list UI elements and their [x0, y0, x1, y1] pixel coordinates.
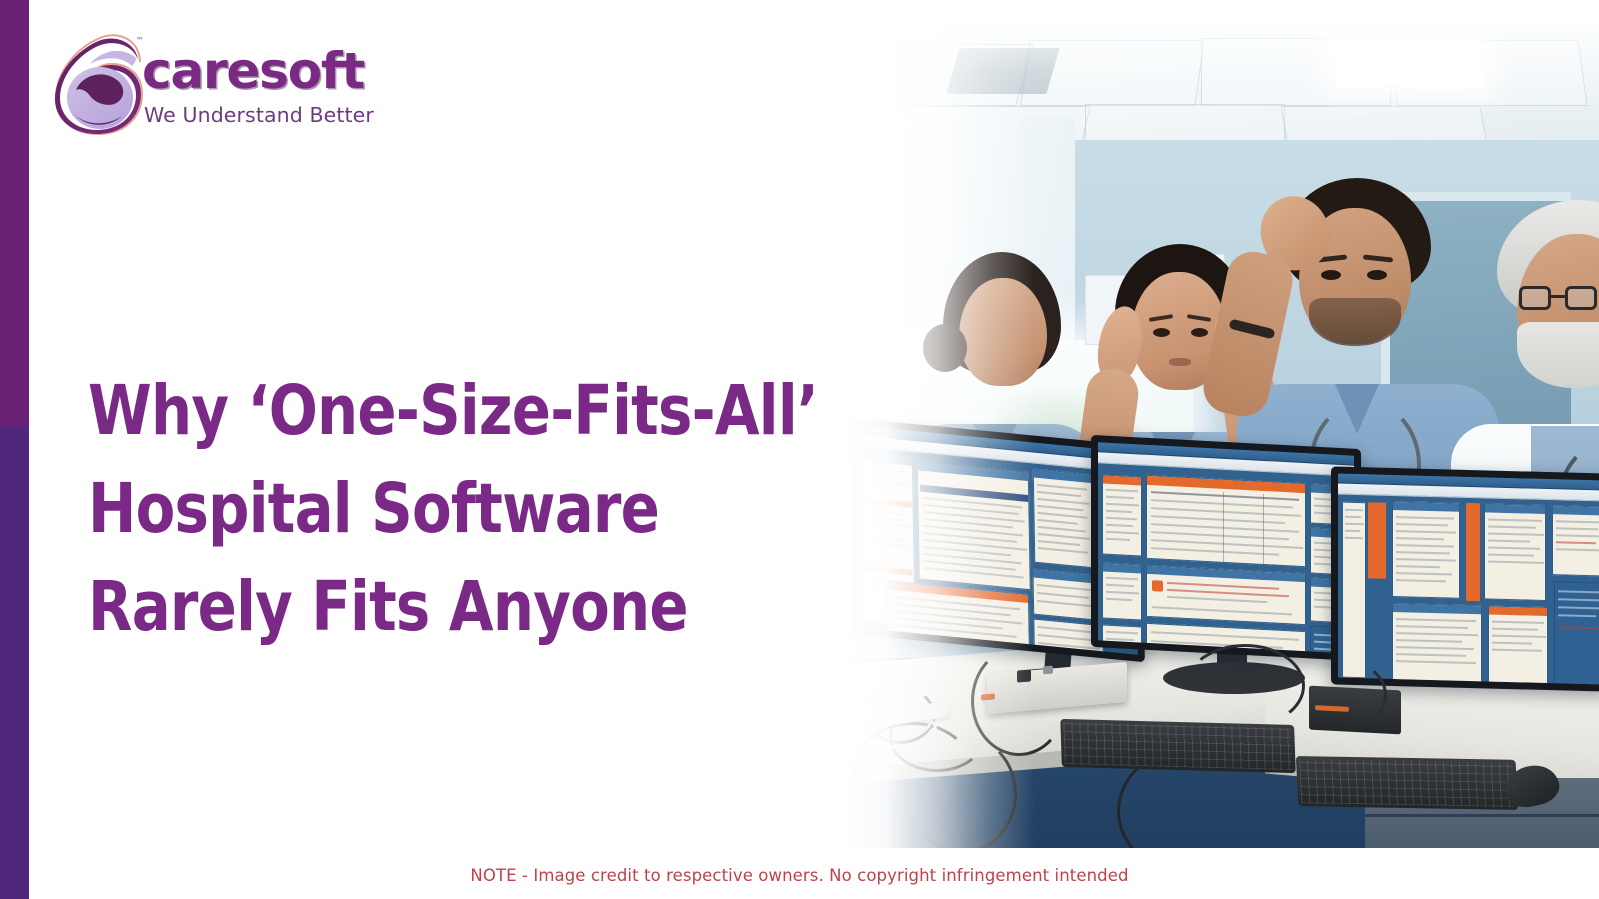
- accent-strip-top-segment: [0, 0, 29, 426]
- left-accent-strip: [0, 0, 29, 899]
- monitor-center: [1091, 435, 1361, 661]
- monitor-right-screen: [1338, 474, 1599, 685]
- photo-scene: [845, 22, 1599, 848]
- beard: [1517, 322, 1599, 388]
- headline-line-3: Rarely Fits Anyone: [88, 558, 767, 656]
- image-credit-note: NOTE - Image credit to respective owners…: [0, 866, 1599, 885]
- hospital-workstation-photo: [845, 22, 1599, 848]
- accent-strip-bottom-segment: [0, 426, 29, 899]
- brand-logo[interactable]: ™ caresoft We Understand Better: [52, 28, 382, 138]
- brand-name: caresoft: [142, 48, 382, 96]
- alert-banner: [1368, 502, 1386, 578]
- monitor-center-screen: [1098, 442, 1354, 653]
- logo-wordmark: caresoft We Understand Better: [142, 48, 382, 127]
- keyboard-right[interactable]: [1296, 756, 1518, 810]
- headline-line-2: Hospital Software: [88, 460, 767, 558]
- caresoft-droplet-six-logo-icon: [52, 32, 148, 136]
- slide-canvas: ™ caresoft We Understand Better Why ‘One…: [0, 0, 1599, 899]
- headline-line-1: Why ‘One-Size-Fits-All’: [88, 362, 767, 460]
- eyeglasses-icon: [1519, 286, 1597, 310]
- ceiling-light-panel: [1331, 40, 1486, 86]
- headline: Why ‘One-Size-Fits-All’ Hospital Softwar…: [88, 362, 818, 656]
- brand-tagline: We Understand Better: [144, 103, 382, 127]
- monitor-right: [1331, 466, 1599, 691]
